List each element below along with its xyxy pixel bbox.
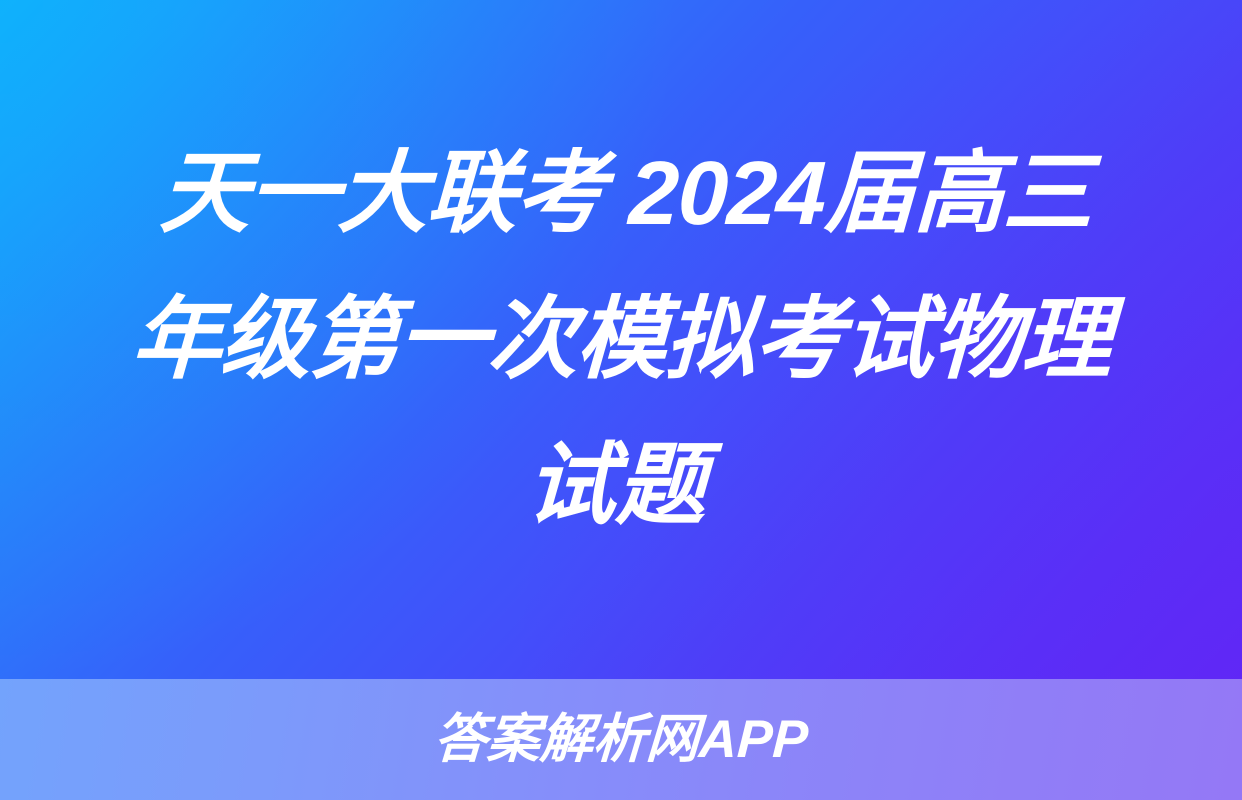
page-title-line-3: 试题 (63, 413, 1168, 559)
footer-watermark-band: 答案解析网APP (0, 679, 1242, 800)
page-title-line-1: 天一大联考 2024届高三 (74, 121, 1179, 267)
page-title: 天一大联考 2024届高三 年级第一次模拟考试物理 试题 (63, 121, 1178, 559)
hero-gradient-banner: 天一大联考 2024届高三 年级第一次模拟考试物理 试题 (0, 0, 1242, 679)
exam-paper-cover-poster: 天一大联考 2024届高三 年级第一次模拟考试物理 试题 答案解析网APP (0, 0, 1242, 800)
app-brand-watermark: 答案解析网APP (433, 712, 810, 768)
page-title-line-2: 年级第一次模拟考试物理 (68, 267, 1173, 413)
